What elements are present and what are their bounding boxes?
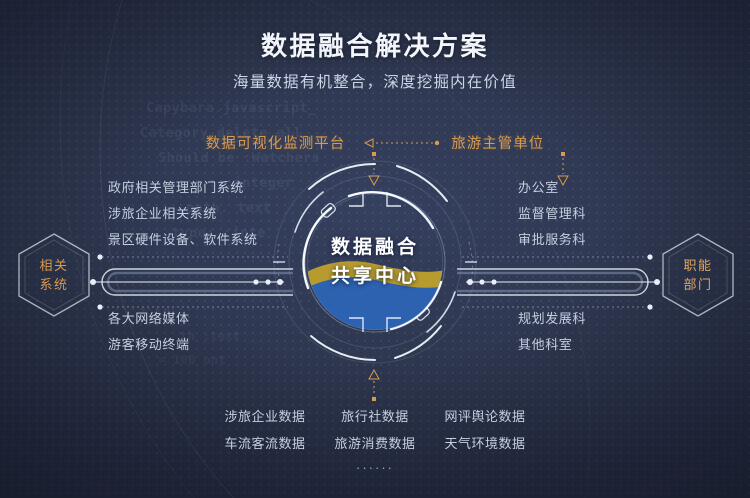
- list-item: 景区硬件设备、软件系统: [108, 227, 258, 253]
- hexagon-left-label: 相关 系统: [14, 231, 94, 319]
- hexagon-right-line2: 部门: [683, 275, 712, 294]
- data-rail-right: [452, 252, 662, 312]
- list-item: 天气环境数据: [430, 430, 540, 457]
- list-item: 涉旅企业数据: [210, 403, 320, 430]
- left-source-list-bottom: 各大网络媒体 游客移动终端: [108, 306, 190, 358]
- list-item: 审批服务科: [518, 227, 586, 253]
- ellipsis-indicator: ······: [356, 457, 394, 479]
- list-item: 各大网络媒体: [108, 306, 190, 332]
- label-visualization-platform: 数据可视化监测平台: [206, 132, 346, 153]
- marker-bottom-up-icon: [364, 367, 384, 403]
- list-item: 网评舆论数据: [430, 403, 540, 430]
- list-item: 游客移动终端: [108, 332, 190, 358]
- right-department-list-top: 办公室 监督管理科 审批服务科: [518, 175, 586, 253]
- list-item: 监督管理科: [518, 201, 586, 227]
- list-item: 办公室: [518, 175, 586, 201]
- data-rail-left: [88, 252, 298, 312]
- list-item: 涉旅企业相关系统: [108, 201, 258, 227]
- list-item: 车流客流数据: [210, 430, 320, 457]
- label-tourism-authority: 旅游主管单位: [451, 132, 544, 153]
- hexagon-right-label: 职能 部门: [658, 231, 738, 319]
- hub-label: 数据融合 共享中心: [271, 158, 479, 366]
- list-item: 旅行社数据: [320, 403, 430, 430]
- list-item: 旅游消费数据: [320, 430, 430, 457]
- hexagon-right-line1: 职能: [683, 256, 712, 275]
- top-label-row: 数据可视化监测平台 旅游主管单位: [0, 132, 750, 153]
- list-item: 政府相关管理部门系统: [108, 175, 258, 201]
- table-row: 车流客流数据 旅游消费数据 天气环境数据: [210, 430, 540, 457]
- hub-line2: 共享中心: [331, 262, 419, 291]
- right-department-list-bottom: 规划发展科 其他科室: [518, 306, 586, 358]
- hub-line1: 数据融合: [331, 233, 419, 262]
- table-row: 涉旅企业数据 旅行社数据 网评舆论数据: [210, 403, 540, 430]
- page-title: 数据融合解决方案: [0, 26, 750, 63]
- hexagon-related-systems[interactable]: 相关 系统: [14, 231, 94, 319]
- list-item: 规划发展科: [518, 306, 586, 332]
- hexagon-left-line2: 系统: [39, 275, 68, 294]
- dotted-arrow-left-icon: [355, 138, 441, 148]
- page-subtitle: 海量数据有机整合，深度挖掘内在价值: [0, 70, 750, 92]
- bottom-data-grid: 涉旅企业数据 旅行社数据 网评舆论数据 车流客流数据 旅游消费数据 天气环境数据…: [0, 403, 750, 479]
- left-source-list-top: 政府相关管理部门系统 涉旅企业相关系统 景区硬件设备、软件系统: [108, 175, 258, 253]
- hexagon-left-line1: 相关: [39, 256, 68, 275]
- hexagon-functional-departments[interactable]: 职能 部门: [658, 231, 738, 319]
- infographic-canvas: Capybara.javascript_ Category.delete_all…: [0, 0, 750, 498]
- list-item: 其他科室: [518, 332, 586, 358]
- data-fusion-hub[interactable]: 数据融合 共享中心: [271, 158, 479, 366]
